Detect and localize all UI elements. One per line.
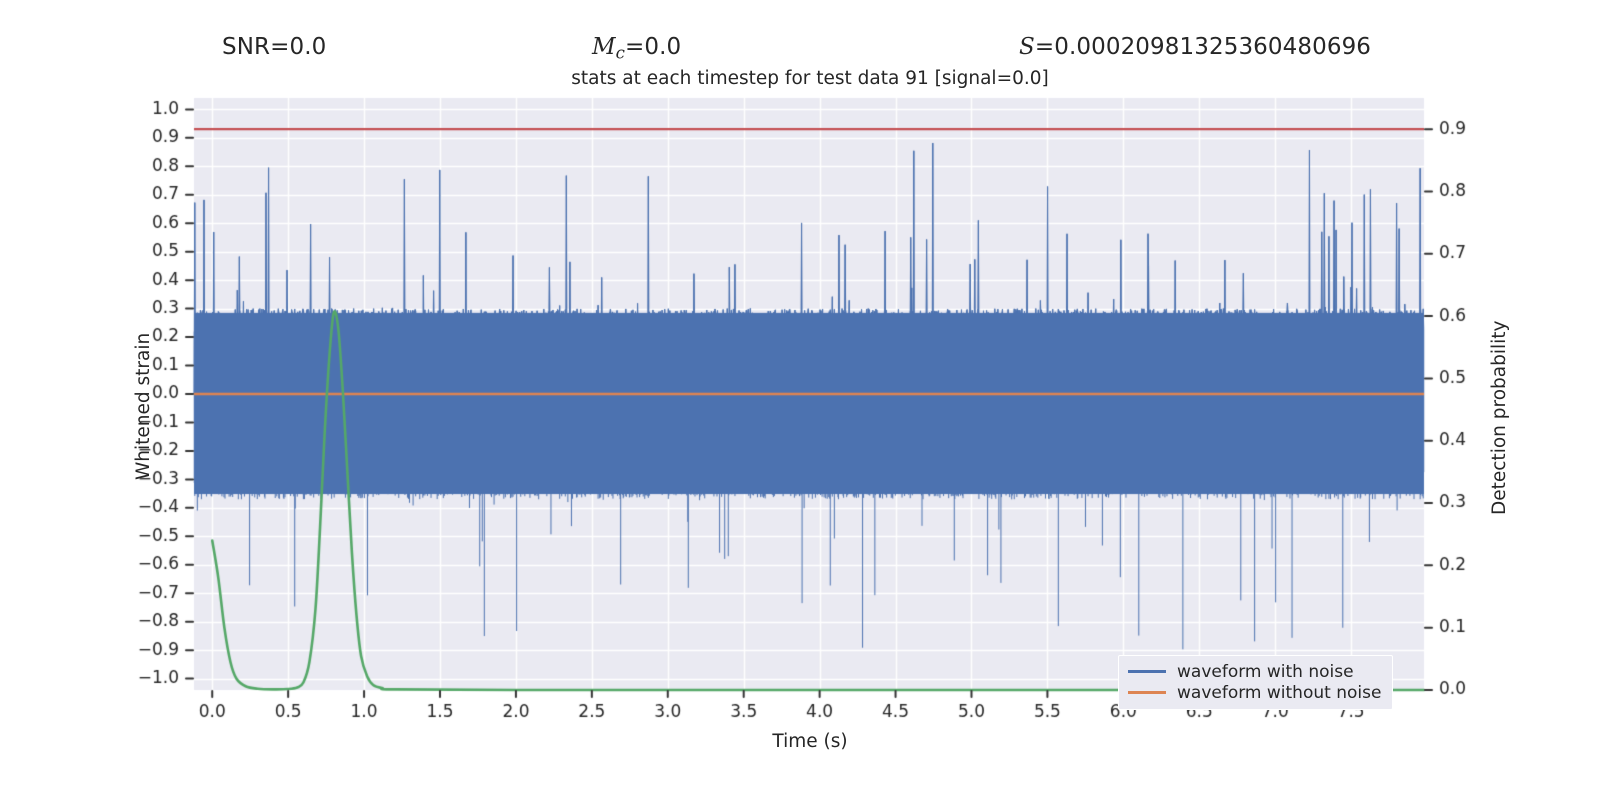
legend-swatch-waveform-without-noise <box>1128 691 1166 694</box>
figure-canvas: SNR=0.0 Mc=0.0 S=0.00020981325360480696 … <box>0 0 1600 800</box>
legend: waveform with noise waveform without noi… <box>1118 655 1393 710</box>
legend-swatch-waveform-with-noise <box>1128 670 1166 673</box>
legend-item-waveform-with-noise[interactable]: waveform with noise <box>1128 661 1381 682</box>
legend-label-waveform-without-noise: waveform without noise <box>1177 683 1381 703</box>
legend-label-waveform-with-noise: waveform with noise <box>1177 662 1354 682</box>
legend-item-waveform-without-noise[interactable]: waveform without noise <box>1128 682 1381 703</box>
y-axis-label-left: Whitened strain <box>133 333 154 480</box>
x-axis-label: Time (s) <box>10 731 1600 752</box>
y-axis-label-right: Detection probability <box>1489 321 1510 515</box>
